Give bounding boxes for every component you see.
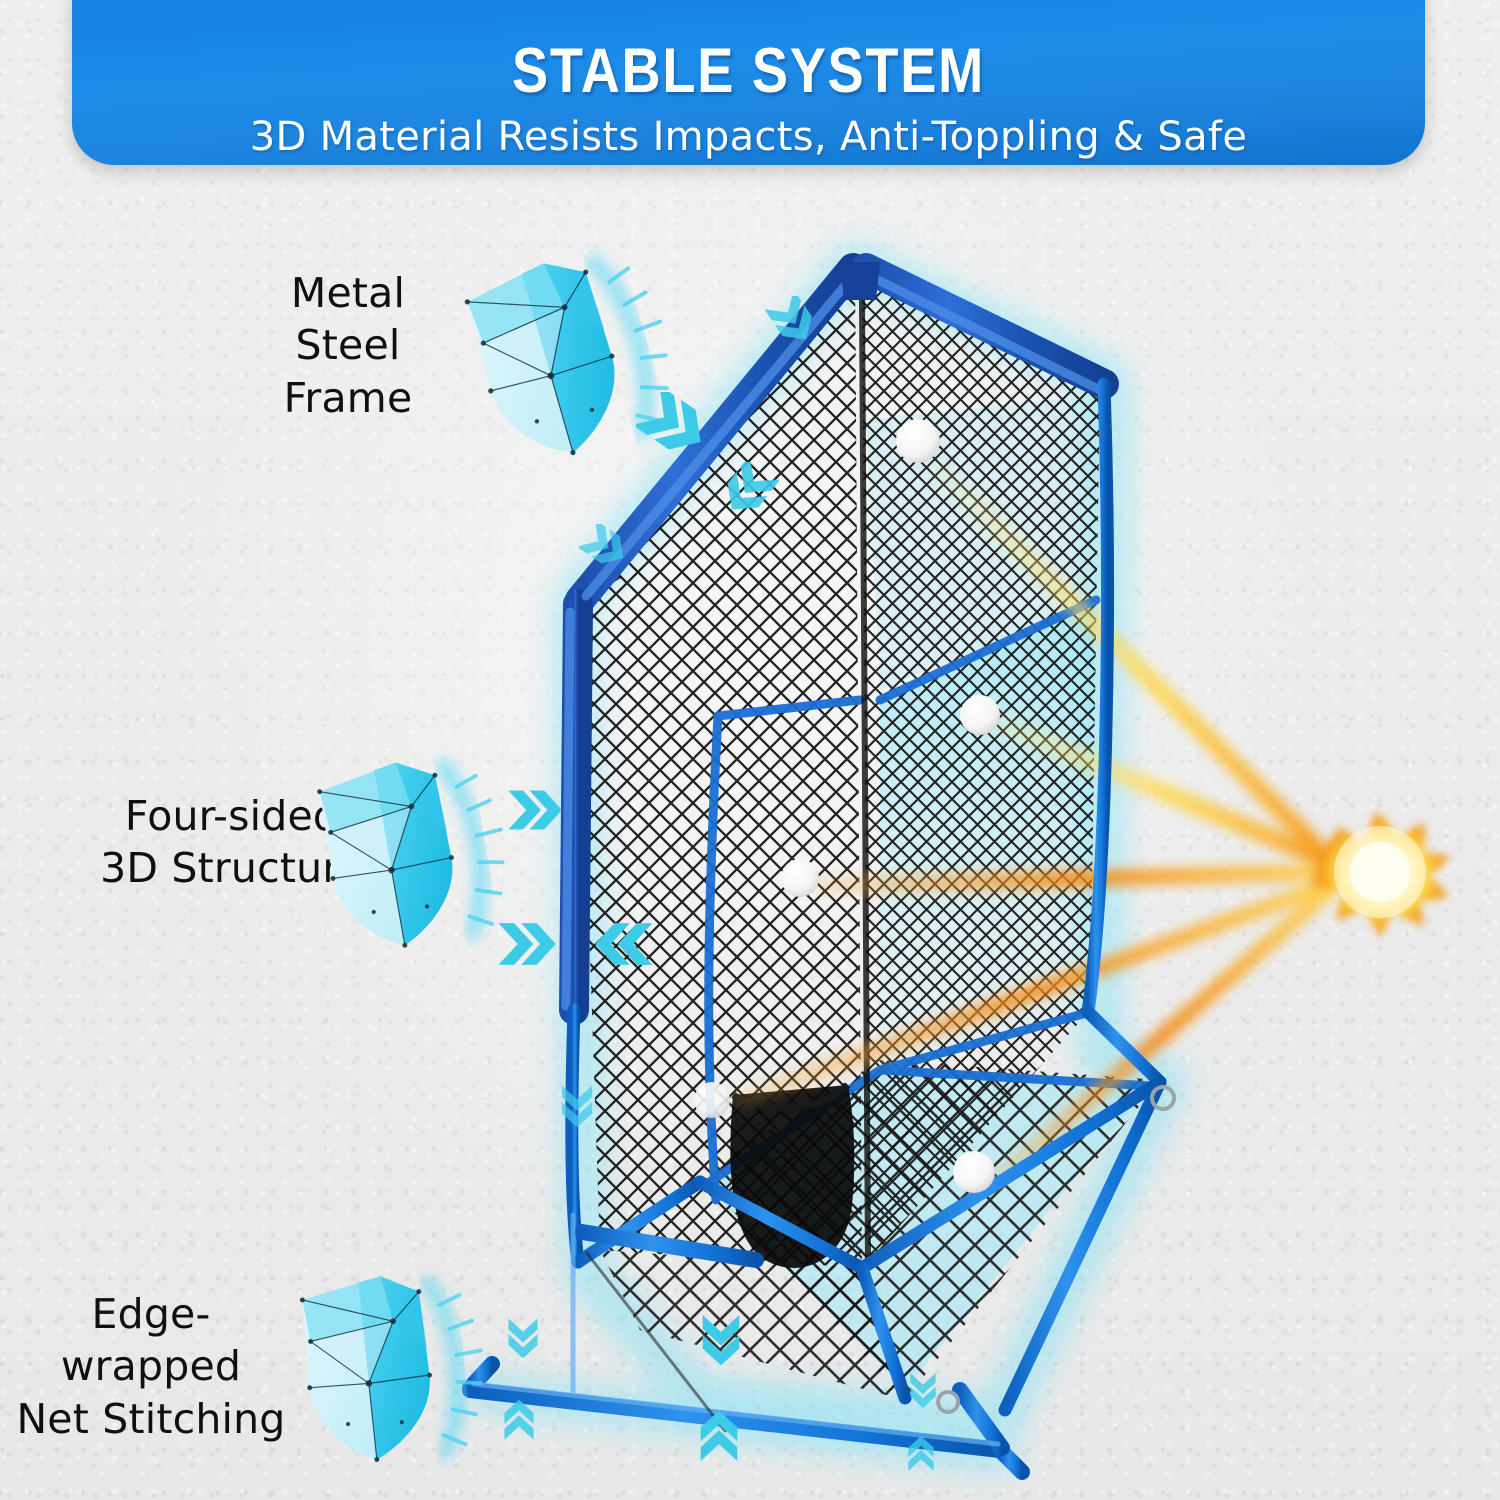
fireball-burst-icon xyxy=(1310,810,1454,938)
ball xyxy=(953,1151,995,1193)
double-chevron-icon xyxy=(636,392,712,456)
low-poly-shield-icon-edge-wrapped-net xyxy=(276,1266,496,1481)
feature-label-metal-steel-frame: Metal Steel Frame xyxy=(238,267,458,424)
double-chevron-icon xyxy=(495,916,561,972)
ball xyxy=(896,419,940,463)
double-chevron-icon xyxy=(553,1086,601,1128)
double-chevron-icon xyxy=(500,1310,546,1368)
double-chevron-icon xyxy=(590,916,656,972)
double-chevron-icon xyxy=(717,462,779,516)
double-chevron-icon xyxy=(903,1366,943,1416)
ball xyxy=(694,1082,730,1118)
double-chevron-icon xyxy=(901,1428,941,1478)
feature-label-edge-wrapped-net: Edge-wrapped Net Stitching xyxy=(6,1288,296,1445)
ball xyxy=(960,695,1000,735)
ball xyxy=(781,859,819,897)
double-chevron-icon xyxy=(765,296,821,344)
banner-subtitle: 3D Material Resists Impacts, Anti-Toppli… xyxy=(72,117,1425,157)
ball-collection-pocket xyxy=(730,1085,854,1268)
double-chevron-icon xyxy=(690,1400,748,1470)
double-chevron-icon xyxy=(496,1390,542,1448)
double-chevron-icon xyxy=(505,784,567,836)
header-banner: STABLE SYSTEM 3D Material Resists Impact… xyxy=(72,0,1425,165)
double-chevron-icon xyxy=(579,524,631,568)
double-chevron-icon xyxy=(692,1306,750,1376)
low-poly-shield-icon-four-sided-structure xyxy=(298,755,518,965)
infographic-canvas: STABLE SYSTEM 3D Material Resists Impact… xyxy=(0,0,1500,1500)
banner-title: STABLE SYSTEM xyxy=(167,40,1331,103)
product-illustration xyxy=(0,0,1500,1500)
